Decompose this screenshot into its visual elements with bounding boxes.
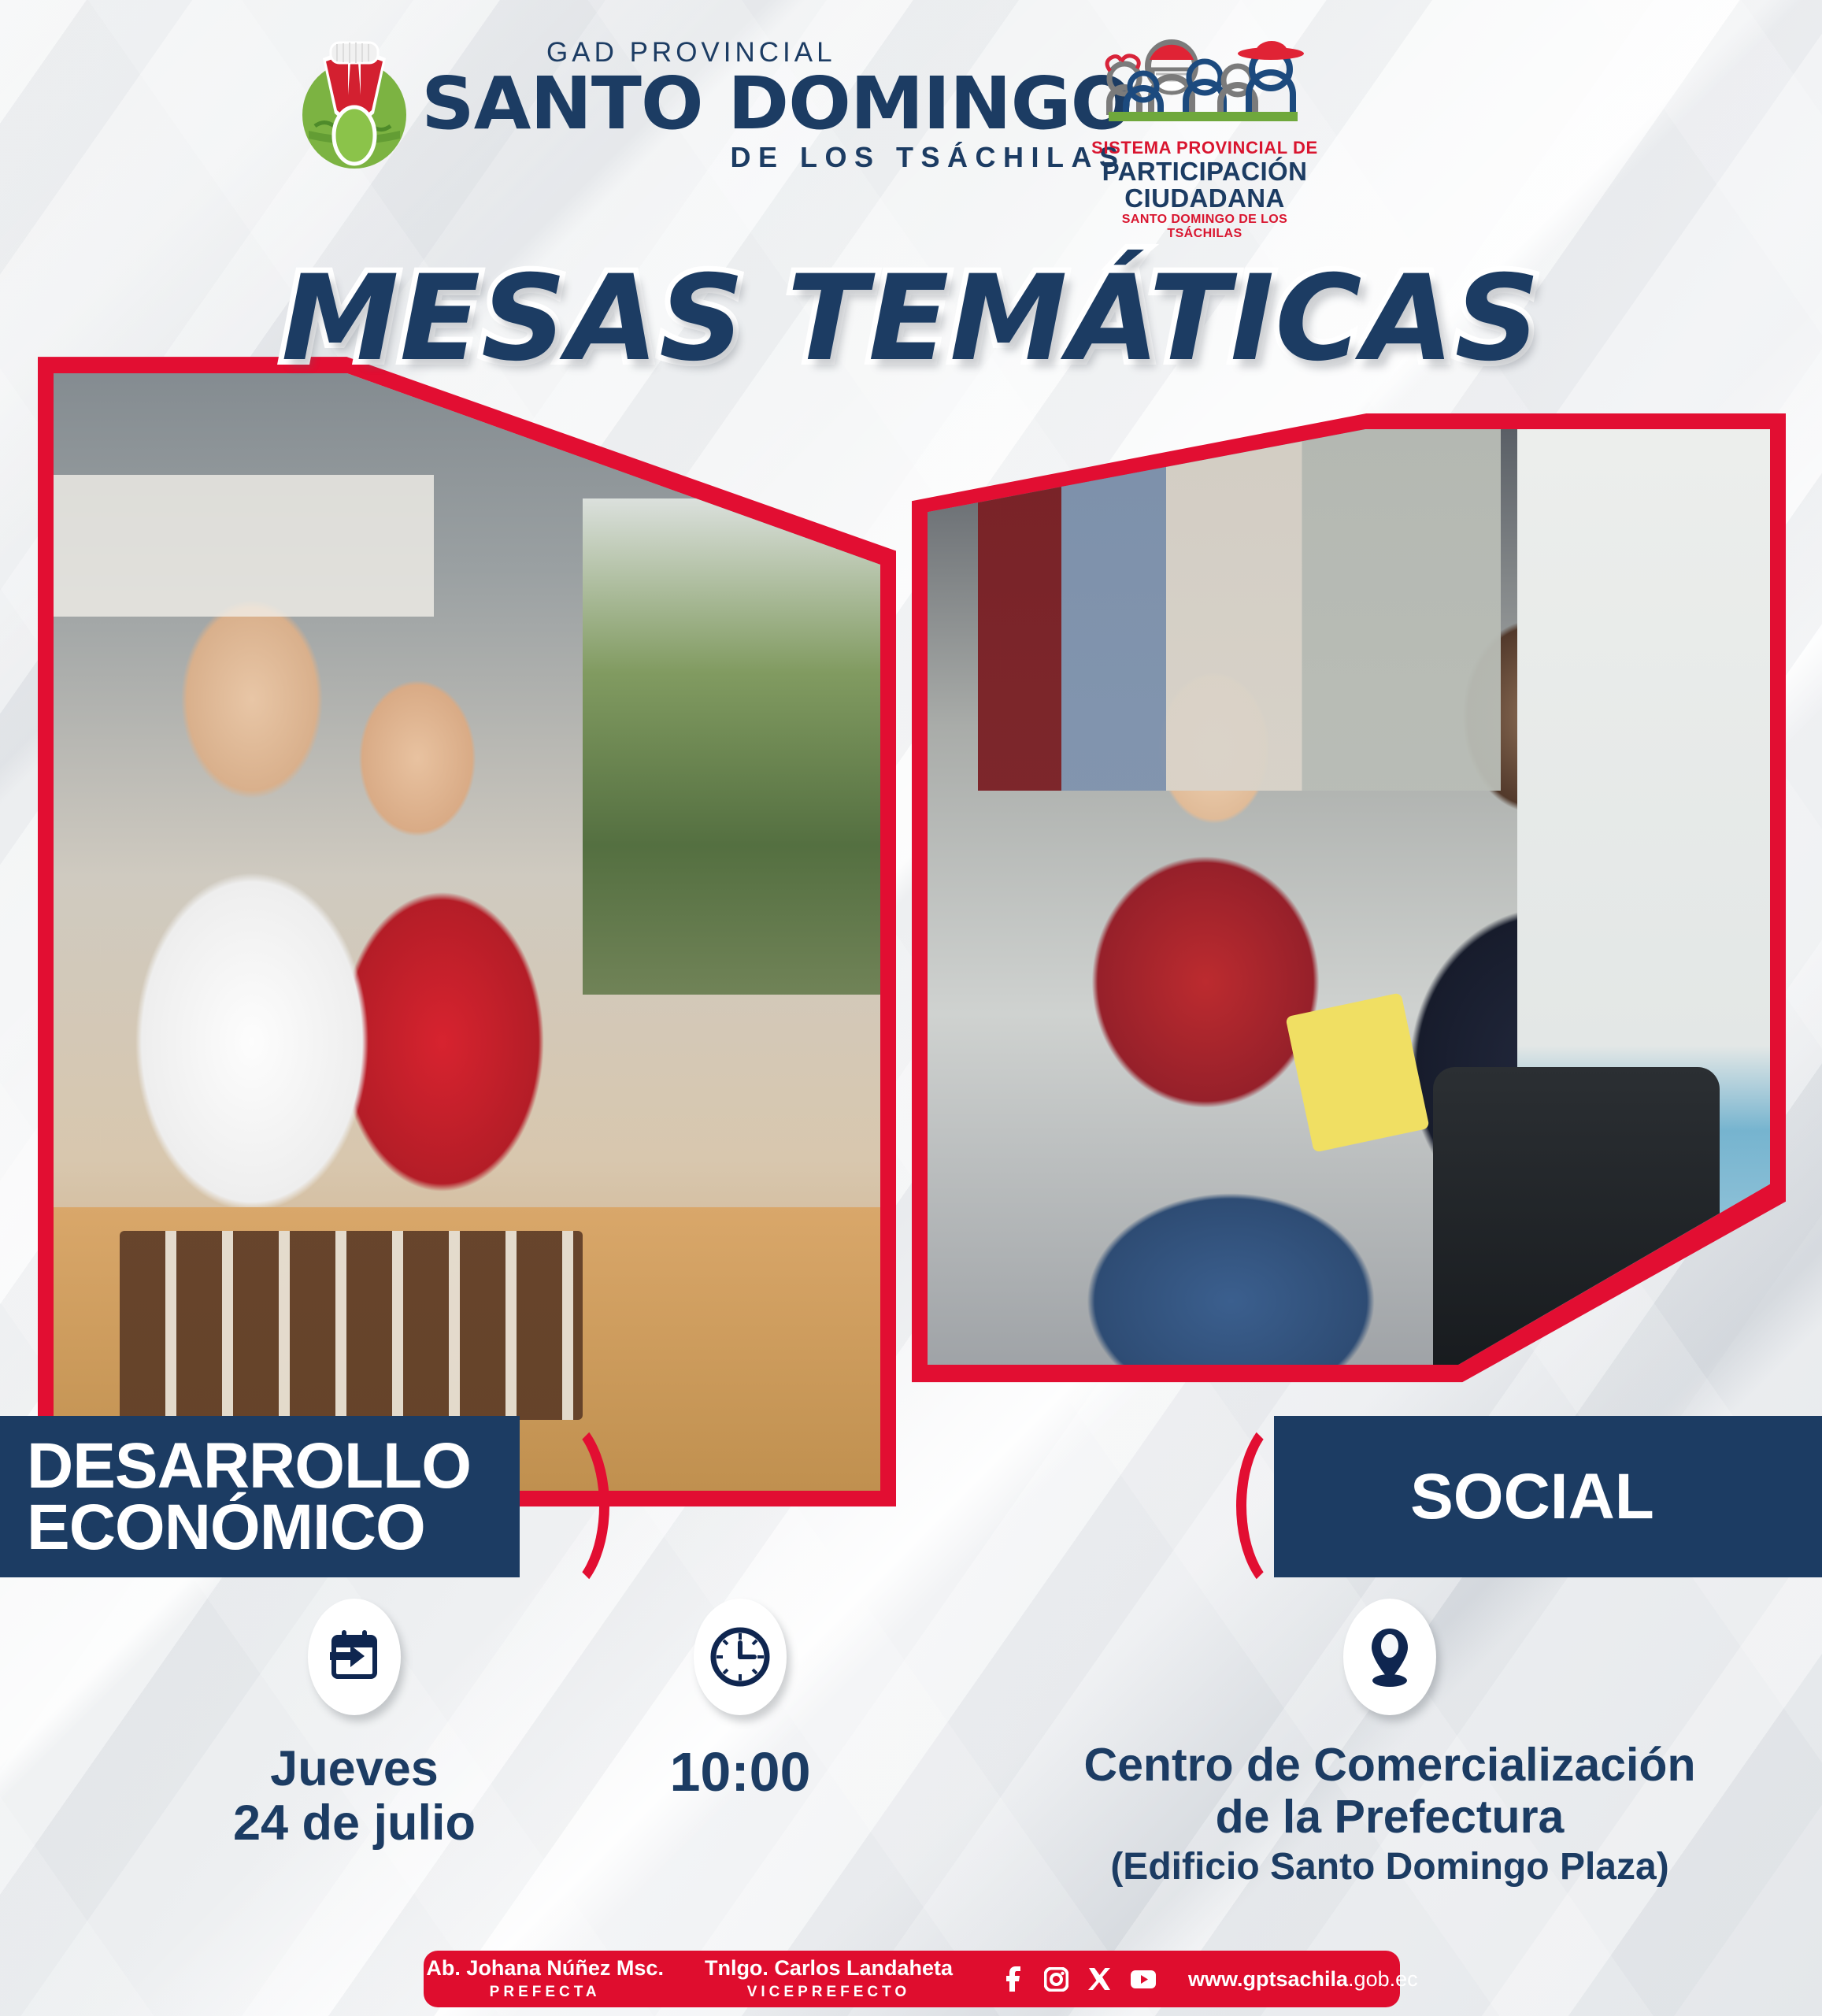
event-date-date: 24 de julio xyxy=(197,1796,512,1851)
pc-line3: SANTO DOMINGO DE LOS TSÁCHILAS xyxy=(1087,213,1323,241)
location-pin-icon xyxy=(1365,1625,1415,1688)
family-group-logo xyxy=(1087,30,1323,131)
label-bar-desarrollo-economico: DESARROLLO ECONÓMICO xyxy=(0,1416,520,1577)
photo-desarrollo-economico-frame xyxy=(38,294,896,1506)
event-place-line2: de la Prefectura xyxy=(988,1791,1791,1843)
footer-person-prefecta: Ab. Johana Núñez Msc. PREFECTA xyxy=(406,1957,684,2001)
logo-gad-provincial: GAD PROVINCIAL SANTO DOMINGO DE LOS TSÁC… xyxy=(291,38,1126,172)
pc-line2b: CIUDADANA xyxy=(1087,185,1323,212)
location-pin-icon-badge xyxy=(1343,1599,1436,1715)
footer-person2-role: VICEPREFECTO xyxy=(705,1984,953,2001)
event-place-block: Centro de Comercialización de la Prefect… xyxy=(988,1599,1791,1888)
photo-desarrollo-economico xyxy=(54,309,880,1491)
x-twitter-icon[interactable] xyxy=(1087,1967,1111,1991)
logo-participacion-ciudadana: SISTEMA PROVINCIAL DE PARTICIPACIÓN CIUD… xyxy=(1087,30,1323,241)
photo-social-frame xyxy=(912,413,1786,1508)
clock-icon-badge xyxy=(694,1599,787,1715)
photo-collage xyxy=(0,280,1822,1508)
footer-person1-role: PREFECTA xyxy=(426,1984,664,2001)
event-date-day: Jueves xyxy=(197,1742,512,1796)
calendar-icon xyxy=(325,1628,383,1686)
label-desarrollo: DESARROLLO xyxy=(27,1436,471,1497)
pc-line1: SISTEMA PROVINCIAL DE xyxy=(1087,138,1323,158)
photo-social xyxy=(928,429,1770,1492)
event-time-value: 10:00 xyxy=(606,1742,874,1803)
header: GAD PROVINCIAL SANTO DOMINGO DE LOS TSÁC… xyxy=(0,0,1822,236)
photo-desarrollo-economico-image xyxy=(54,309,880,1491)
arc-divider-right xyxy=(1236,1412,1343,1599)
footer-social-links xyxy=(1002,1966,1157,1992)
footer-person-viceprefecto: Tnlgo. Carlos Landaheta VICEPREFECTO xyxy=(684,1957,973,2001)
facebook-icon[interactable] xyxy=(1002,1966,1025,1992)
label-bar-social: SOCIAL xyxy=(1274,1416,1822,1577)
pc-line2a: PARTICIPACIÓN xyxy=(1087,158,1323,185)
label-economico: ECONÓMICO xyxy=(27,1497,471,1558)
footer-bar: Ab. Johana Núñez Msc. PREFECTA Tnlgo. Ca… xyxy=(424,1951,1400,2007)
photo-social-image xyxy=(928,429,1770,1492)
event-date-block: Jueves 24 de julio xyxy=(197,1599,512,1851)
label-social: SOCIAL xyxy=(1410,1460,1686,1534)
youtube-icon[interactable] xyxy=(1130,1970,1157,1989)
footer-person1-name: Ab. Johana Núñez Msc. xyxy=(426,1957,664,1981)
event-place-line1: Centro de Comercialización xyxy=(988,1739,1791,1791)
event-time-block: 10:00 xyxy=(606,1599,874,1803)
arc-divider-left xyxy=(502,1412,609,1599)
poster-canvas: GAD PROVINCIAL SANTO DOMINGO DE LOS TSÁC… xyxy=(0,0,1822,2016)
page-title: MESAS TEMÁTICAS xyxy=(0,250,1822,387)
logo-subname: DE LOS TSÁCHILAS xyxy=(428,143,1126,172)
clock-icon xyxy=(709,1626,771,1688)
footer-person2-name: Tnlgo. Carlos Landaheta xyxy=(705,1957,953,1981)
footer-website-bold: www.gptsachila xyxy=(1188,1967,1348,1991)
event-info-row: Jueves 24 de julio xyxy=(0,1599,1822,1898)
calendar-icon-badge xyxy=(308,1599,401,1715)
footer-website[interactable]: www.gptsachila.gob.ec xyxy=(1188,1967,1418,1992)
event-place-sub: (Edificio Santo Domingo Plaza) xyxy=(988,1846,1791,1888)
tsachila-crest-logo xyxy=(291,38,417,172)
logo-name: SANTO DOMINGO xyxy=(421,68,1132,140)
footer-website-rest: .gob.ec xyxy=(1348,1967,1418,1991)
instagram-icon[interactable] xyxy=(1044,1967,1068,1992)
